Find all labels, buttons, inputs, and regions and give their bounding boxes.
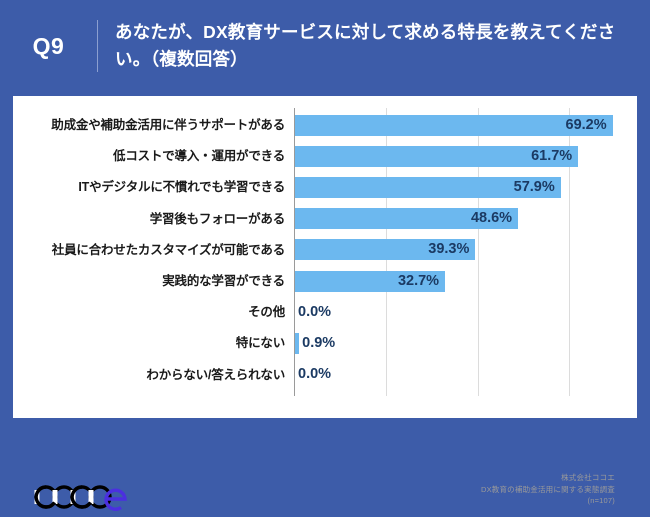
- bar-group: 0.0%: [295, 362, 331, 388]
- bar: [295, 333, 299, 354]
- category-label: 社員に合わせたカスタマイズが可能である: [13, 237, 285, 263]
- cocoe-logo-icon: [33, 482, 133, 512]
- credit-sample-size: (n=107): [355, 495, 615, 507]
- bar-chart: 助成金や補助金活用に伴うサポートがある69.2%低コストで導入・運用ができる61…: [13, 96, 637, 418]
- credit-block: 株式会社ココエ DX教育の補助金活用に関する実態調査 (n=107): [355, 472, 615, 507]
- category-label: ITやデジタルに不慣れでも学習できる: [13, 174, 285, 200]
- bar-container: 57.9%: [295, 177, 561, 198]
- bar-container: 32.7%: [295, 271, 445, 292]
- bar-group: 0.0%: [295, 299, 331, 325]
- bar-group: 39.3%: [295, 237, 475, 263]
- category-label: その他: [13, 299, 285, 325]
- bar-value-label: 0.0%: [298, 364, 331, 385]
- category-label: 学習後もフォローがある: [13, 206, 285, 232]
- bar-container: 48.6%: [295, 208, 518, 229]
- bar-group: 69.2%: [295, 112, 613, 138]
- bar-value-label: 57.9%: [514, 177, 555, 198]
- chart-row: 社員に合わせたカスタマイズが可能である39.3%: [13, 237, 637, 263]
- bar-value-label: 48.6%: [471, 208, 512, 229]
- bar-container: [295, 333, 299, 354]
- chart-row: わからない/答えられない0.0%: [13, 362, 637, 388]
- chart-row: 助成金や補助金活用に伴うサポートがある69.2%: [13, 112, 637, 138]
- bar-value-label: 0.0%: [298, 302, 331, 323]
- chart-rows: 助成金や補助金活用に伴うサポートがある69.2%低コストで導入・運用ができる61…: [13, 96, 637, 418]
- credit-survey: DX教育の補助金活用に関する実態調査: [355, 484, 615, 496]
- category-label: わからない/答えられない: [13, 362, 285, 388]
- category-label: 特にない: [13, 330, 285, 356]
- cocoe-logo: [33, 482, 133, 512]
- bar-value-label: 39.3%: [428, 239, 469, 260]
- bar-group: 57.9%: [295, 174, 561, 200]
- bar-value-label: 69.2%: [566, 115, 607, 136]
- bar-group: 61.7%: [295, 143, 578, 169]
- bar-container: 39.3%: [295, 239, 475, 260]
- bar-value-label: 61.7%: [531, 146, 572, 167]
- bar-value-label: 32.7%: [398, 271, 439, 292]
- chart-row: 特にない0.9%: [13, 330, 637, 356]
- bar-container: 69.2%: [295, 115, 613, 136]
- chart-card: 助成金や補助金活用に伴うサポートがある69.2%低コストで導入・運用ができる61…: [13, 96, 637, 418]
- credit-company: 株式会社ココエ: [355, 472, 615, 484]
- bar-group: 48.6%: [295, 206, 518, 232]
- survey-result-poster: Q9 あなたが、DX教育サービスに対して求める特長を教えてください。（複数回答）…: [0, 0, 650, 434]
- chart-row: ITやデジタルに不慣れでも学習できる57.9%: [13, 174, 637, 200]
- bar-container: 61.7%: [295, 146, 578, 167]
- chart-row: 低コストで導入・運用ができる61.7%: [13, 143, 637, 169]
- question-title: あなたが、DX教育サービスに対して求める特長を教えてください。（複数回答）: [98, 19, 650, 73]
- chart-row: その他0.0%: [13, 299, 637, 325]
- bar-value-label: 0.9%: [302, 333, 335, 354]
- question-number: Q9: [0, 33, 97, 60]
- header-band: Q9 あなたが、DX教育サービスに対して求める特長を教えてください。（複数回答）: [0, 0, 650, 92]
- chart-row: 実践的な学習ができる32.7%: [13, 268, 637, 294]
- chart-row: 学習後もフォローがある48.6%: [13, 206, 637, 232]
- category-label: 実践的な学習ができる: [13, 268, 285, 294]
- bar-group: 32.7%: [295, 268, 445, 294]
- category-label: 低コストで導入・運用ができる: [13, 143, 285, 169]
- category-label: 助成金や補助金活用に伴うサポートがある: [13, 112, 285, 138]
- bar-group: 0.9%: [295, 330, 335, 356]
